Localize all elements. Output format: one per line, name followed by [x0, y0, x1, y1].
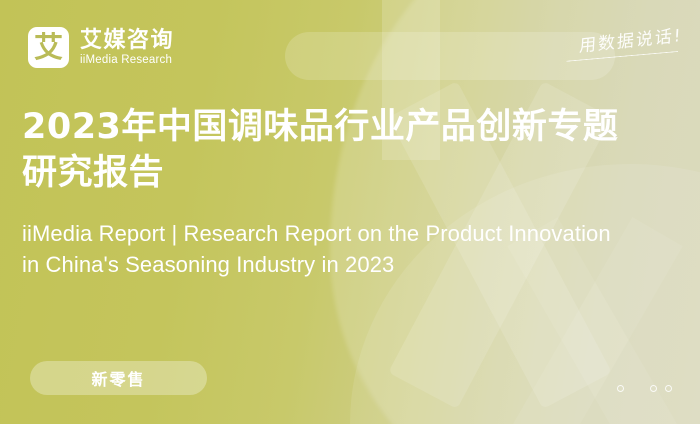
- page-subtitle: iiMedia Report | Research Report on the …: [22, 218, 612, 280]
- pagination-dot-3[interactable]: [665, 385, 672, 392]
- pagination-dot-2[interactable]: [650, 385, 657, 392]
- category-tag-badge[interactable]: 新零售: [30, 361, 207, 395]
- brand-wordmark: 艾媒咨询 iiMedia Research: [80, 29, 174, 67]
- brand-name-english: iiMedia Research: [80, 54, 174, 67]
- slogan-text: 用数据说话!: [579, 26, 683, 58]
- brand-lockup[interactable]: 艾 艾媒咨询 iiMedia Research: [28, 27, 174, 68]
- logo-glyph: 艾: [34, 33, 63, 62]
- category-tag-label: 新零售: [91, 366, 145, 390]
- pagination-dot-1[interactable]: [617, 385, 624, 392]
- slogan-block: 用数据说话!: [566, 26, 682, 52]
- brand-name-chinese: 艾媒咨询: [80, 29, 174, 53]
- report-cover-slide: 艾 艾媒咨询 iiMedia Research 用数据说话! 2023年中国调味…: [0, 0, 700, 424]
- title-block: 2023年中国调味品行业产品创新专题研究报告 iiMedia Report | …: [22, 104, 642, 280]
- page-title: 2023年中国调味品行业产品创新专题研究报告: [22, 104, 622, 196]
- iimedia-logo-icon: 艾: [28, 27, 69, 68]
- pagination-dots[interactable]: [617, 385, 672, 392]
